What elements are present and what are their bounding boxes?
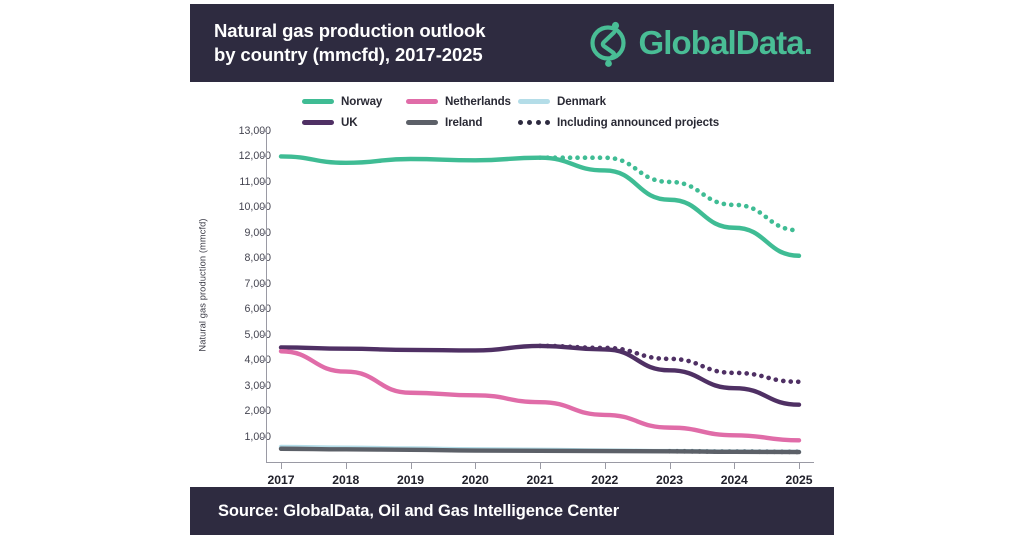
legend-label-netherlands: Netherlands	[445, 95, 511, 108]
x-tick-mark	[411, 462, 412, 469]
x-tick-mark	[346, 462, 347, 469]
x-tick-mark	[734, 462, 735, 469]
x-tick-label: 2024	[704, 473, 764, 487]
header-bar: Natural gas production outlook by countr…	[190, 4, 834, 82]
legend-label-norway: Norway	[341, 95, 382, 108]
x-tick-label: 2022	[575, 473, 635, 487]
y-tick-mark	[260, 284, 266, 285]
series-line	[540, 346, 799, 382]
y-tick-mark	[260, 437, 266, 438]
y-tick-mark	[260, 182, 266, 183]
x-tick-label: 2019	[381, 473, 441, 487]
x-tick-mark	[281, 462, 282, 469]
x-tick-mark	[799, 462, 800, 469]
legend-swatch-netherlands	[406, 99, 438, 104]
series-lines	[266, 131, 814, 462]
y-tick-mark	[260, 233, 266, 234]
y-tick-mark	[260, 309, 266, 310]
legend-swatch-denmark	[518, 99, 550, 104]
y-tick-mark	[260, 156, 266, 157]
y-tick-mark	[260, 386, 266, 387]
source-footer: Source: GlobalData, Oil and Gas Intellig…	[190, 487, 834, 535]
x-tick-label: 2018	[316, 473, 376, 487]
chart-area: Natural gas production (mmcfd) 13,00012,…	[190, 125, 834, 480]
plot-region	[266, 131, 814, 462]
y-tick-mark	[260, 335, 266, 336]
x-tick-label: 2017	[251, 473, 311, 487]
x-tick-label: 2021	[510, 473, 570, 487]
legend-item-norway: Norway	[302, 95, 406, 108]
y-tick-mark	[260, 207, 266, 208]
brand-logo: GlobalData.	[584, 16, 812, 70]
source-text: Source: GlobalData, Oil and Gas Intellig…	[218, 502, 619, 521]
legend-item-denmark: Denmark	[518, 95, 752, 108]
y-tick-mark	[260, 411, 266, 412]
series-line	[281, 346, 799, 405]
y-tick-mark	[260, 131, 266, 132]
infographic-card: Natural gas production outlook by countr…	[190, 0, 834, 538]
page-title: Natural gas production outlook by countr…	[214, 19, 485, 68]
x-tick-mark	[670, 462, 671, 469]
x-tick-label: 2023	[640, 473, 700, 487]
y-axis-ticks: 13,00012,00011,00010,0009,0008,0007,0006…	[200, 125, 276, 480]
series-line	[281, 351, 799, 440]
x-tick-label: 2020	[445, 473, 505, 487]
globaldata-circle-logo-icon	[584, 16, 632, 70]
legend-swatch-norway	[302, 99, 334, 104]
legend-item-netherlands: Netherlands	[406, 95, 518, 108]
y-tick-mark	[260, 258, 266, 259]
infographic-root: Natural gas production outlook by countr…	[0, 0, 1024, 538]
y-tick-mark	[260, 360, 266, 361]
x-tick-mark	[605, 462, 606, 469]
legend-label-denmark: Denmark	[557, 95, 606, 108]
x-tick-mark	[475, 462, 476, 469]
series-line	[281, 156, 799, 255]
brand-name: GlobalData.	[639, 24, 812, 62]
x-tick-mark	[540, 462, 541, 469]
x-tick-label: 2025	[769, 473, 829, 487]
